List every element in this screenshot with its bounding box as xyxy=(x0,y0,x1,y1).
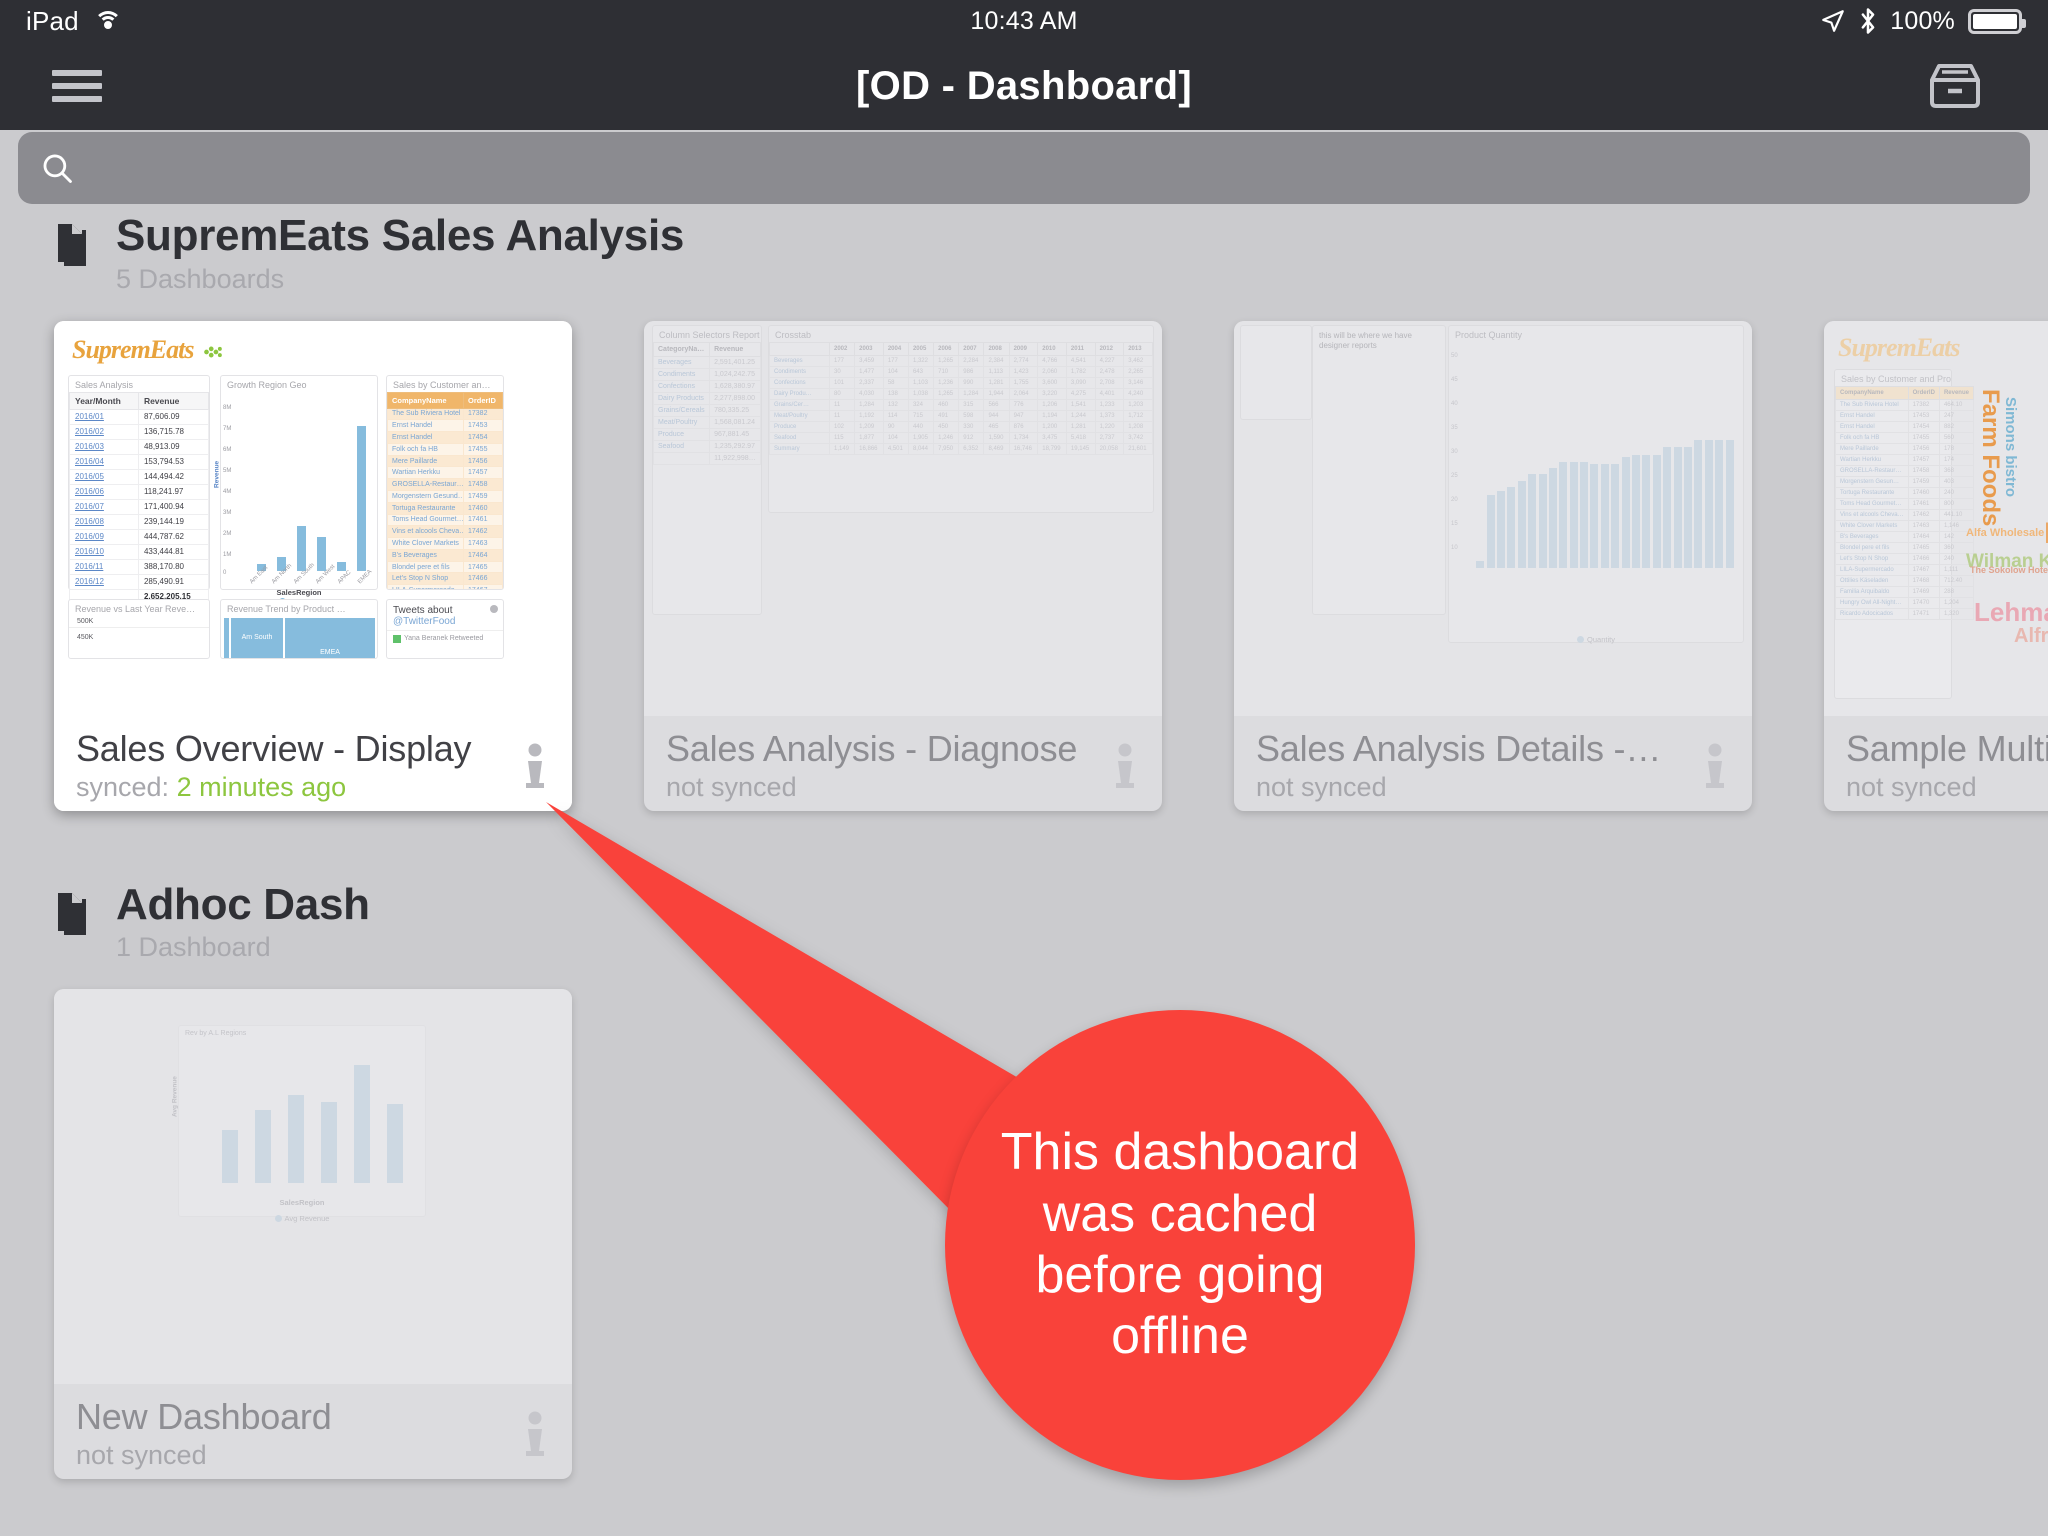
panel-blank-left xyxy=(1240,325,1312,420)
table-row: Wartian Herkku17457 xyxy=(388,467,503,479)
table-row: 2016/05144,494.42 xyxy=(70,469,209,484)
search-bar-container xyxy=(0,132,2048,212)
table-row: Let's Stop N Shop17466 xyxy=(388,573,503,585)
section-subtitle: 1 Dashboard xyxy=(116,932,370,963)
panel-rev-by-region: Rev by A.L Regions Avg Revenue xyxy=(178,1025,426,1217)
y-axis-label: Avg Revenue xyxy=(172,1076,179,1117)
table-row: 2016/12285,490.91 xyxy=(70,574,209,589)
info-icon xyxy=(490,605,498,613)
bar-group xyxy=(1475,356,1735,568)
table-row: The Sub Riviera Hotel17382464.10 xyxy=(1836,399,1974,410)
table-row: 2016/0348,913.09 xyxy=(70,439,209,454)
card-footer: Sales Analysis Details -… not synced xyxy=(1234,716,1752,811)
panel-product-quantity: Product Quantity 50 45 40 35 30 25 20 15 xyxy=(1448,325,1744,643)
brand-logo: SupremEats xyxy=(72,335,223,365)
table-row: Folk och fa HB17455 xyxy=(388,443,503,455)
info-icon[interactable] xyxy=(520,743,550,789)
table-row: Toms Head Gourmet…17461 xyxy=(388,514,503,526)
panel-column-selectors: Column Selectors Report CategoryNa…Reven… xyxy=(652,325,762,615)
table-row: Meat/Poultry1,568,081.24 xyxy=(654,416,761,428)
card-title: New Dashboard xyxy=(76,1396,550,1438)
card-sync-status: not synced xyxy=(666,772,1140,803)
page-title: [OD - Dashboard] xyxy=(0,64,2048,109)
table-row: Mere Paillarde17456 xyxy=(388,455,503,467)
info-icon[interactable] xyxy=(1700,743,1730,789)
bar-group xyxy=(213,1057,411,1183)
bar-pacific xyxy=(387,1104,403,1183)
panel-growth-region-geo: Growth Region Geo Revenue 8M 7M 6M 5M 4M… xyxy=(220,375,378,590)
panel-revenue-trend-by-product: Revenue Trend by Product … Am South EMEA xyxy=(220,599,378,659)
table-row: Beverages2,591,401.25 xyxy=(654,356,761,368)
thumbnail-new-dashboard: Rev by A.L Regions Avg Revenue xyxy=(54,989,572,1384)
tweets-title: Tweets about xyxy=(387,600,503,616)
card-footer: Sales Overview - Display synced: 2 minut… xyxy=(54,716,572,811)
table-row: 2016/07171,400.94 xyxy=(70,499,209,514)
search-icon xyxy=(40,151,74,185)
table-row: Dairy Products2,277,898.00 xyxy=(654,392,761,404)
table-row: Grains/Cereals780,335.25 xyxy=(654,404,761,416)
info-icon[interactable] xyxy=(520,1411,550,1457)
battery-icon xyxy=(1968,9,2022,34)
card-footer: Sales Analysis - Diagnose not synced xyxy=(644,716,1162,811)
table-row: Hungry Owl All-Night…174701,204 xyxy=(1836,597,1974,608)
thumbnail-sales-analysis-diagnose: Column Selectors Report CategoryNa…Reven… xyxy=(644,321,1162,716)
table-row: Ernst Handel17453 xyxy=(388,420,503,432)
table-row: Tortuga Restaurante17460 xyxy=(388,502,503,514)
bar-am-east xyxy=(222,1130,238,1183)
table-row: Toms Head Gourmet…17461800 xyxy=(1836,498,1974,509)
table-row: Confections1,628,380.97 xyxy=(654,380,761,392)
leaf-logo-icon xyxy=(201,344,223,360)
table-row: White Clover Markets17463 xyxy=(388,538,503,550)
sync-value: 2 minutes ago xyxy=(177,772,347,802)
search-input[interactable] xyxy=(88,151,2008,185)
table-row: B's Beverages17464 xyxy=(388,549,503,561)
status-right: 100% xyxy=(1820,7,2022,36)
table-row: Familia Arquibaldo17469288 xyxy=(1836,586,1974,597)
info-icon[interactable] xyxy=(1110,743,1140,789)
growth-region-geo-chart: Revenue 8M 7M 6M 5M 4M 3M 2M 1M 0 xyxy=(221,392,377,605)
callout-bubble: This dashboard was cached before going o… xyxy=(945,1010,1415,1480)
table-row: 2016/06118,241.97 xyxy=(70,484,209,499)
sales-analysis-table: Year/Month Revenue 2016/0187,606.09 2016… xyxy=(69,392,209,605)
table-row: 2016/04153,794.53 xyxy=(70,454,209,469)
table-row: GROSELLA-Restaur…17458 xyxy=(388,479,503,491)
bar-emea xyxy=(357,426,366,571)
bar-am-south xyxy=(288,1095,304,1183)
table-row: The Sub Riviera Hotel17382 xyxy=(388,408,503,420)
table-row: Seafood1151,8771041,9051,2469121,5901,73… xyxy=(770,432,1153,443)
inbox-tray-icon[interactable] xyxy=(1924,60,1986,112)
table-row: 2016/08239,144.19 xyxy=(70,514,209,529)
table-row: 2016/0187,606.09 xyxy=(70,409,209,424)
search-bar[interactable] xyxy=(18,132,2030,204)
section-title: Adhoc Dash xyxy=(116,881,370,929)
callout-text: This dashboard was cached before going o… xyxy=(945,1122,1415,1367)
table-row: Wartian Herkku17457174 xyxy=(1836,454,1974,465)
table-row: Vins et alcools Cheva…17462 xyxy=(388,526,503,538)
card-thumbnail: Rev by A.L Regions Avg Revenue xyxy=(54,989,572,1384)
bar-apac xyxy=(354,1065,370,1183)
table-row: LILA-Supermercado174671,111 xyxy=(1836,564,1974,575)
table-total-row: 11,922,998… xyxy=(654,452,761,464)
treemap-tile xyxy=(224,618,229,658)
table-row: Folk och fa HB17455560 xyxy=(1836,432,1974,443)
card-title: Sales Overview - Display xyxy=(76,728,550,770)
card-sync-status: not synced xyxy=(76,1440,550,1471)
table-row: Morgenstern Gesun…17459403 xyxy=(1836,476,1974,487)
table-row: Mere Paillarde17456178 xyxy=(1836,443,1974,454)
bar-am-south xyxy=(297,526,306,571)
table-row: Produce1021,209904404503304658761,2001,2… xyxy=(770,421,1153,432)
section-supremeats-sales-analysis: SupremEats Sales Analysis 5 Dashboards S… xyxy=(0,212,2048,811)
table-row: Seafood1,235,292.97 xyxy=(654,440,761,452)
table-row: Vins et alcools Cheva…17462441.10 xyxy=(1836,509,1974,520)
bar-apac xyxy=(337,562,346,571)
table-row: 2016/10433,444.81 xyxy=(70,544,209,559)
rev-by-region-chart: Avg Revenue SalesRegion xyxy=(179,1039,425,1229)
card-thumbnail: Column Selectors Report CategoryNa…Reven… xyxy=(644,321,1162,716)
bar-am-north xyxy=(255,1110,271,1183)
dashboard-card-new-dashboard[interactable]: Rev by A.L Regions Avg Revenue xyxy=(54,989,572,1479)
sync-prefix: synced: xyxy=(76,772,169,802)
tweets-handle: @TwitterFood xyxy=(387,616,503,631)
thumbnail-sales-overview: SupremEats Sales Analysis Year/Mon xyxy=(54,321,572,716)
table-row: Ernst Handel17453247 xyxy=(1836,410,1974,421)
table-row: Dairy Produ…804,0301381,0381,2651,2841,9… xyxy=(770,388,1153,399)
table-row: Blondel pere et fils17465360 xyxy=(1836,542,1974,553)
table-row: GROSELLA-Restaur…17458368 xyxy=(1836,465,1974,476)
card-thumbnail: SupremEats Sales Analysis Year/Mon xyxy=(54,321,572,716)
section-header: SupremEats Sales Analysis 5 Dashboards xyxy=(54,212,2048,295)
table-row: Let's Stop N Shop17466240 xyxy=(1836,553,1974,564)
table-row: White Clover Markets174631,146 xyxy=(1836,520,1974,531)
product-quantity-chart: 50 45 40 35 30 25 20 15 10 xyxy=(1449,342,1743,658)
sales-by-customer-product-table: CompanyNameOrderIDRevenue The Sub Rivier… xyxy=(1835,386,1974,620)
bar-am-west xyxy=(321,1102,337,1183)
dashboard-card-sales-analysis-diagnose[interactable]: Column Selectors Report CategoryNa…Reven… xyxy=(644,321,1162,811)
table-row: Grains/Cer…111,2841323244603155667761,20… xyxy=(770,399,1153,410)
dashboard-card-sales-analysis-details[interactable]: this will be where we have designer repo… xyxy=(1234,321,1752,811)
battery-percent: 100% xyxy=(1890,7,1955,36)
sales-by-customer-table: CompanyNameOrderID The Sub Riviera Hotel… xyxy=(387,392,503,590)
chart-legend: Quantity xyxy=(1449,635,1743,644)
table-total-row: Summary1,14916,8664,5018,0447,9506,3528,… xyxy=(770,443,1153,454)
device-name: iPad xyxy=(26,6,79,37)
section-header: Adhoc Dash 1 Dashboard xyxy=(54,881,2048,964)
card-title: Sales Analysis - Diagnose xyxy=(666,728,1140,770)
table-row: Morgenstern Gesund…17459 xyxy=(388,490,503,502)
wifi-icon xyxy=(93,10,123,32)
bar-group xyxy=(251,408,371,571)
card-title: Sales Analysis Details -… xyxy=(1256,728,1730,770)
table-row: Ricardo Adocicados174711,320 xyxy=(1836,608,1974,619)
chart-legend: Avg Revenue xyxy=(179,1214,425,1223)
table-row: Ernst Handel17454882 xyxy=(1836,421,1974,432)
note-text: this will be where we have designer repo… xyxy=(1313,326,1445,357)
table-row: Tortuga Restaurante17460240 xyxy=(1836,487,1974,498)
table-row: Condiments1,024,242.75 xyxy=(654,368,761,380)
panel-sales-by-customer-and-product: Sales by Customer and Product CompanyNam… xyxy=(1834,369,1952,699)
table-row: B's Beverages17464142 xyxy=(1836,531,1974,542)
panel-sales-analysis: Sales Analysis Year/Month Revenue 2016/0… xyxy=(68,375,210,590)
location-arrow-icon xyxy=(1820,8,1846,34)
crosstab-table: 2002200320042005200620072008200920102011… xyxy=(769,342,1153,455)
status-left: iPad xyxy=(26,6,123,37)
section-title: SupremEats Sales Analysis xyxy=(116,212,684,260)
card-sync-status: synced: 2 minutes ago xyxy=(76,772,550,803)
table-row: Blondel pere et fils17465 xyxy=(388,561,503,573)
documents-folder-icon xyxy=(54,889,94,937)
card-sync-status: not synced xyxy=(1846,772,2048,803)
table-row: 2016/09444,787.62 xyxy=(70,529,209,544)
card-thumbnail: SupremEats Sales by Customer and Product… xyxy=(1824,321,2048,716)
card-thumbnail: this will be where we have designer repo… xyxy=(1234,321,1752,716)
panel-sales-by-customer: Sales by Customer an… CompanyNameOrderID… xyxy=(386,375,504,590)
section-subtitle: 5 Dashboards xyxy=(116,264,684,295)
wordcloud: Chop-suey Hanari Folk och Bon app Split … xyxy=(1960,369,2048,696)
table-row: 2016/02136,715.78 xyxy=(70,424,209,439)
panel-designer-note: this will be where we have designer repo… xyxy=(1312,325,1446,615)
status-bar: iPad 10:43 AM 100% xyxy=(0,0,2048,42)
card-footer: Sample Multi-D not synced xyxy=(1824,716,2048,811)
x-axis-label: SalesRegion xyxy=(221,588,377,597)
panel-crosstab: Crosstab 2002200320042005200620072008200… xyxy=(768,325,1154,513)
table-row: Condiments301,4771046437109861,1131,4232… xyxy=(770,366,1153,377)
documents-folder-icon xyxy=(54,220,94,268)
table-row: Confections1012,337581,1031,2369901,2811… xyxy=(770,377,1153,388)
table-row: 2016/11388,170.80 xyxy=(70,559,209,574)
panel-tweets: Tweets about @TwitterFood Yana Beranek R… xyxy=(386,599,504,659)
table-row: Meat/Poultry111,1921147154915989449471,1… xyxy=(770,410,1153,421)
treemap-tile: Am South xyxy=(231,618,283,658)
nav-bar: [OD - Dashboard] xyxy=(0,42,2048,130)
treemap-tile: EMEA xyxy=(285,618,375,658)
x-axis-label: SalesRegion xyxy=(179,1198,425,1207)
dashboard-card-sample-multi-d[interactable]: SupremEats Sales by Customer and Product… xyxy=(1824,321,2048,811)
dashboard-card-sales-overview-display[interactable]: SupremEats Sales Analysis Year/Mon xyxy=(54,321,572,811)
thumbnail-sales-analysis-details: this will be where we have designer repo… xyxy=(1234,321,1752,716)
table-row: LILA-Supermercado17467 xyxy=(388,585,503,590)
bar-am-west xyxy=(317,537,326,571)
card-sync-status: not synced xyxy=(1256,772,1730,803)
panel-revenue-vs-last-year: Revenue vs Last Year Reve… 500K 450K xyxy=(68,599,210,659)
table-row: Ottilies Käseladen17468712.40 xyxy=(1836,575,1974,586)
column-selectors-table: CategoryNa…Revenue Beverages2,591,401.25… xyxy=(653,342,761,465)
card-row: SupremEats Sales Analysis Year/Mon xyxy=(54,321,2048,811)
table-row: Produce967,881.45 xyxy=(654,428,761,440)
thumbnail-sample-multi-d: SupremEats Sales by Customer and Product… xyxy=(1824,321,2048,716)
brand-logo: SupremEats xyxy=(1838,333,1960,363)
y-axis-label: Revenue xyxy=(214,461,221,488)
legend-dot-icon xyxy=(1577,636,1584,643)
legend-dot-icon xyxy=(275,1215,282,1222)
bluetooth-icon xyxy=(1859,7,1877,35)
table-row: Ernst Handel17454 xyxy=(388,432,503,444)
retweet-icon xyxy=(393,635,401,643)
card-title: Sample Multi-D xyxy=(1846,728,2048,770)
status-time: 10:43 AM xyxy=(0,7,2048,36)
table-row: Beverages1773,4591771,3221,2652,2842,384… xyxy=(770,355,1153,366)
card-footer: New Dashboard not synced xyxy=(54,1384,572,1479)
